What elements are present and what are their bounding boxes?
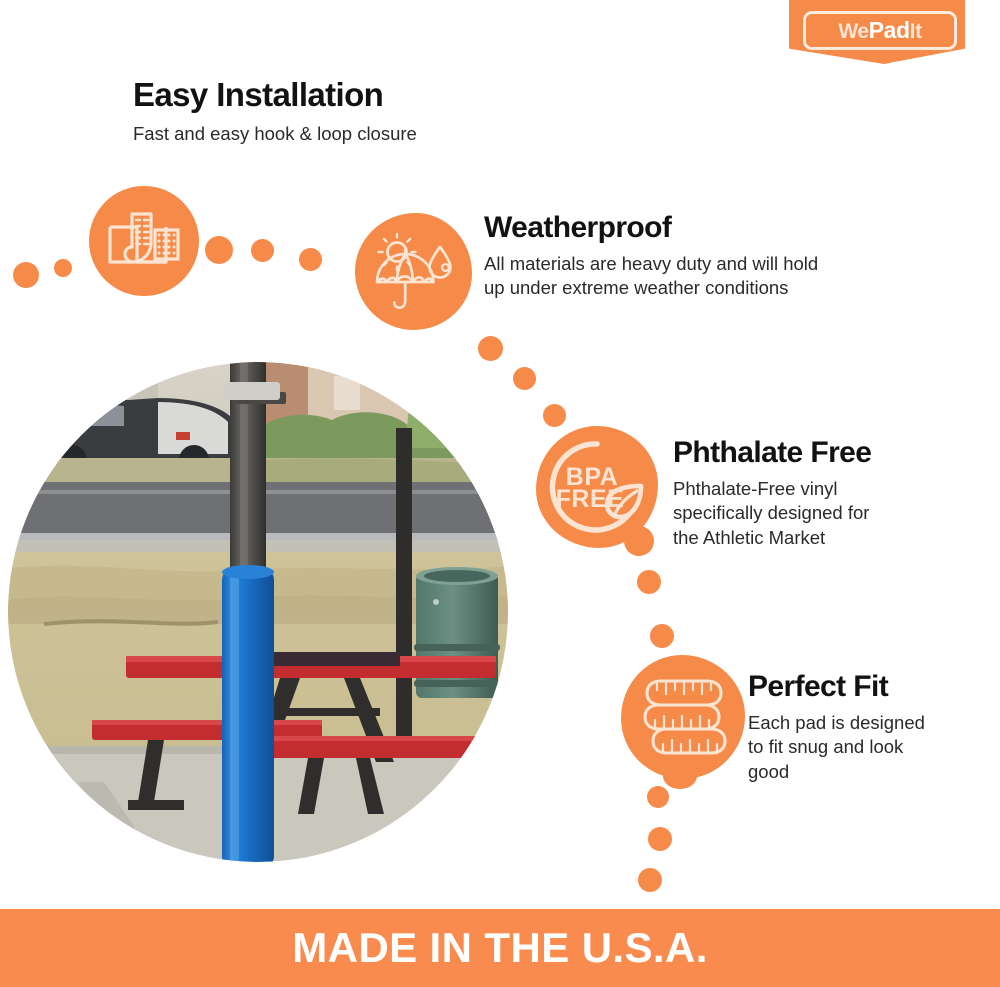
connector-dot — [648, 827, 672, 851]
made-in-usa-text: MADE IN THE U.S.A. — [292, 924, 708, 972]
connector-dot — [478, 336, 503, 361]
feature-title-easy-installation: Easy Installation — [133, 78, 417, 113]
feature-desc-weatherproof: All materials are heavy duty and will ho… — [484, 252, 818, 301]
feature-desc-perfect-fit-line2: to fit snug and look — [748, 736, 903, 757]
feature-desc-phthalate-free: Phthalate-Free vinyl specifically design… — [673, 477, 871, 551]
feature-desc-weatherproof-line1: All materials are heavy duty and will ho… — [484, 253, 818, 274]
feature-icon-bubble-phthalate-free: BPA FREE — [536, 426, 658, 548]
feature-title-weatherproof: Weatherproof — [484, 212, 818, 244]
bpa-free-leaf-icon: BPA FREE — [545, 435, 649, 539]
hook-and-loop-icon — [107, 209, 181, 273]
connector-dot — [543, 404, 566, 427]
logo-text-pad: Pad — [869, 17, 910, 43]
connector-dot — [647, 786, 669, 808]
connector-dot — [638, 868, 662, 892]
brand-logo: WePadIt — [789, 0, 965, 64]
feature-block-phthalate-free: Phthalate Free Phthalate-Free vinyl spec… — [673, 437, 871, 551]
feature-desc-perfect-fit-line1: Each pad is designed — [748, 712, 925, 733]
connector-dot — [13, 262, 39, 288]
bubble-accent-dot — [663, 763, 697, 789]
connector-dot — [513, 367, 536, 390]
feature-desc-phthalate-line2: specifically designed for — [673, 502, 869, 523]
feature-block-perfect-fit: Perfect Fit Each pad is designed to fit … — [748, 671, 925, 785]
feature-icon-bubble-weatherproof — [355, 213, 472, 330]
connector-dot — [637, 570, 661, 594]
feature-block-easy-installation: Easy Installation Fast and easy hook & l… — [133, 78, 417, 147]
measuring-tape-icon — [635, 673, 731, 761]
feature-desc-phthalate-line3: the Athletic Market — [673, 527, 825, 548]
connector-dot — [650, 624, 674, 648]
feature-desc-perfect-fit-line3: good — [748, 761, 789, 782]
bpa-icon-label-line2: FREE — [556, 485, 625, 513]
logo-text-it: It — [910, 20, 922, 43]
logo-wordmark: WePadIt — [838, 20, 921, 42]
umbrella-sun-raindrop-icon — [371, 233, 457, 311]
feature-block-weatherproof: Weatherproof All materials are heavy dut… — [484, 212, 818, 301]
made-in-usa-banner: MADE IN THE U.S.A. — [0, 909, 1000, 987]
feature-icon-bubble-perfect-fit — [621, 655, 745, 779]
bubble-accent-dot — [624, 526, 654, 556]
feature-desc-weatherproof-line2: up under extreme weather conditions — [484, 277, 788, 298]
product-photo — [8, 362, 508, 862]
connector-dot — [299, 248, 322, 271]
feature-desc-easy-installation: Fast and easy hook & loop closure — [133, 122, 417, 147]
feature-title-perfect-fit: Perfect Fit — [748, 671, 925, 703]
connector-dot — [54, 259, 72, 277]
feature-desc-phthalate-line1: Phthalate-Free vinyl — [673, 478, 838, 499]
connector-dot — [205, 236, 233, 264]
feature-icon-bubble-easy-installation — [89, 186, 199, 296]
feature-desc-perfect-fit: Each pad is designed to fit snug and loo… — [748, 711, 925, 785]
product-photo-illustration — [8, 362, 508, 862]
feature-title-phthalate-free: Phthalate Free — [673, 437, 871, 469]
infographic-canvas: WePadIt Easy Installation Fast and easy … — [0, 0, 1000, 987]
connector-dot — [251, 239, 274, 262]
logo-text-we: We — [838, 20, 868, 43]
logo-outline-box: WePadIt — [803, 11, 957, 50]
